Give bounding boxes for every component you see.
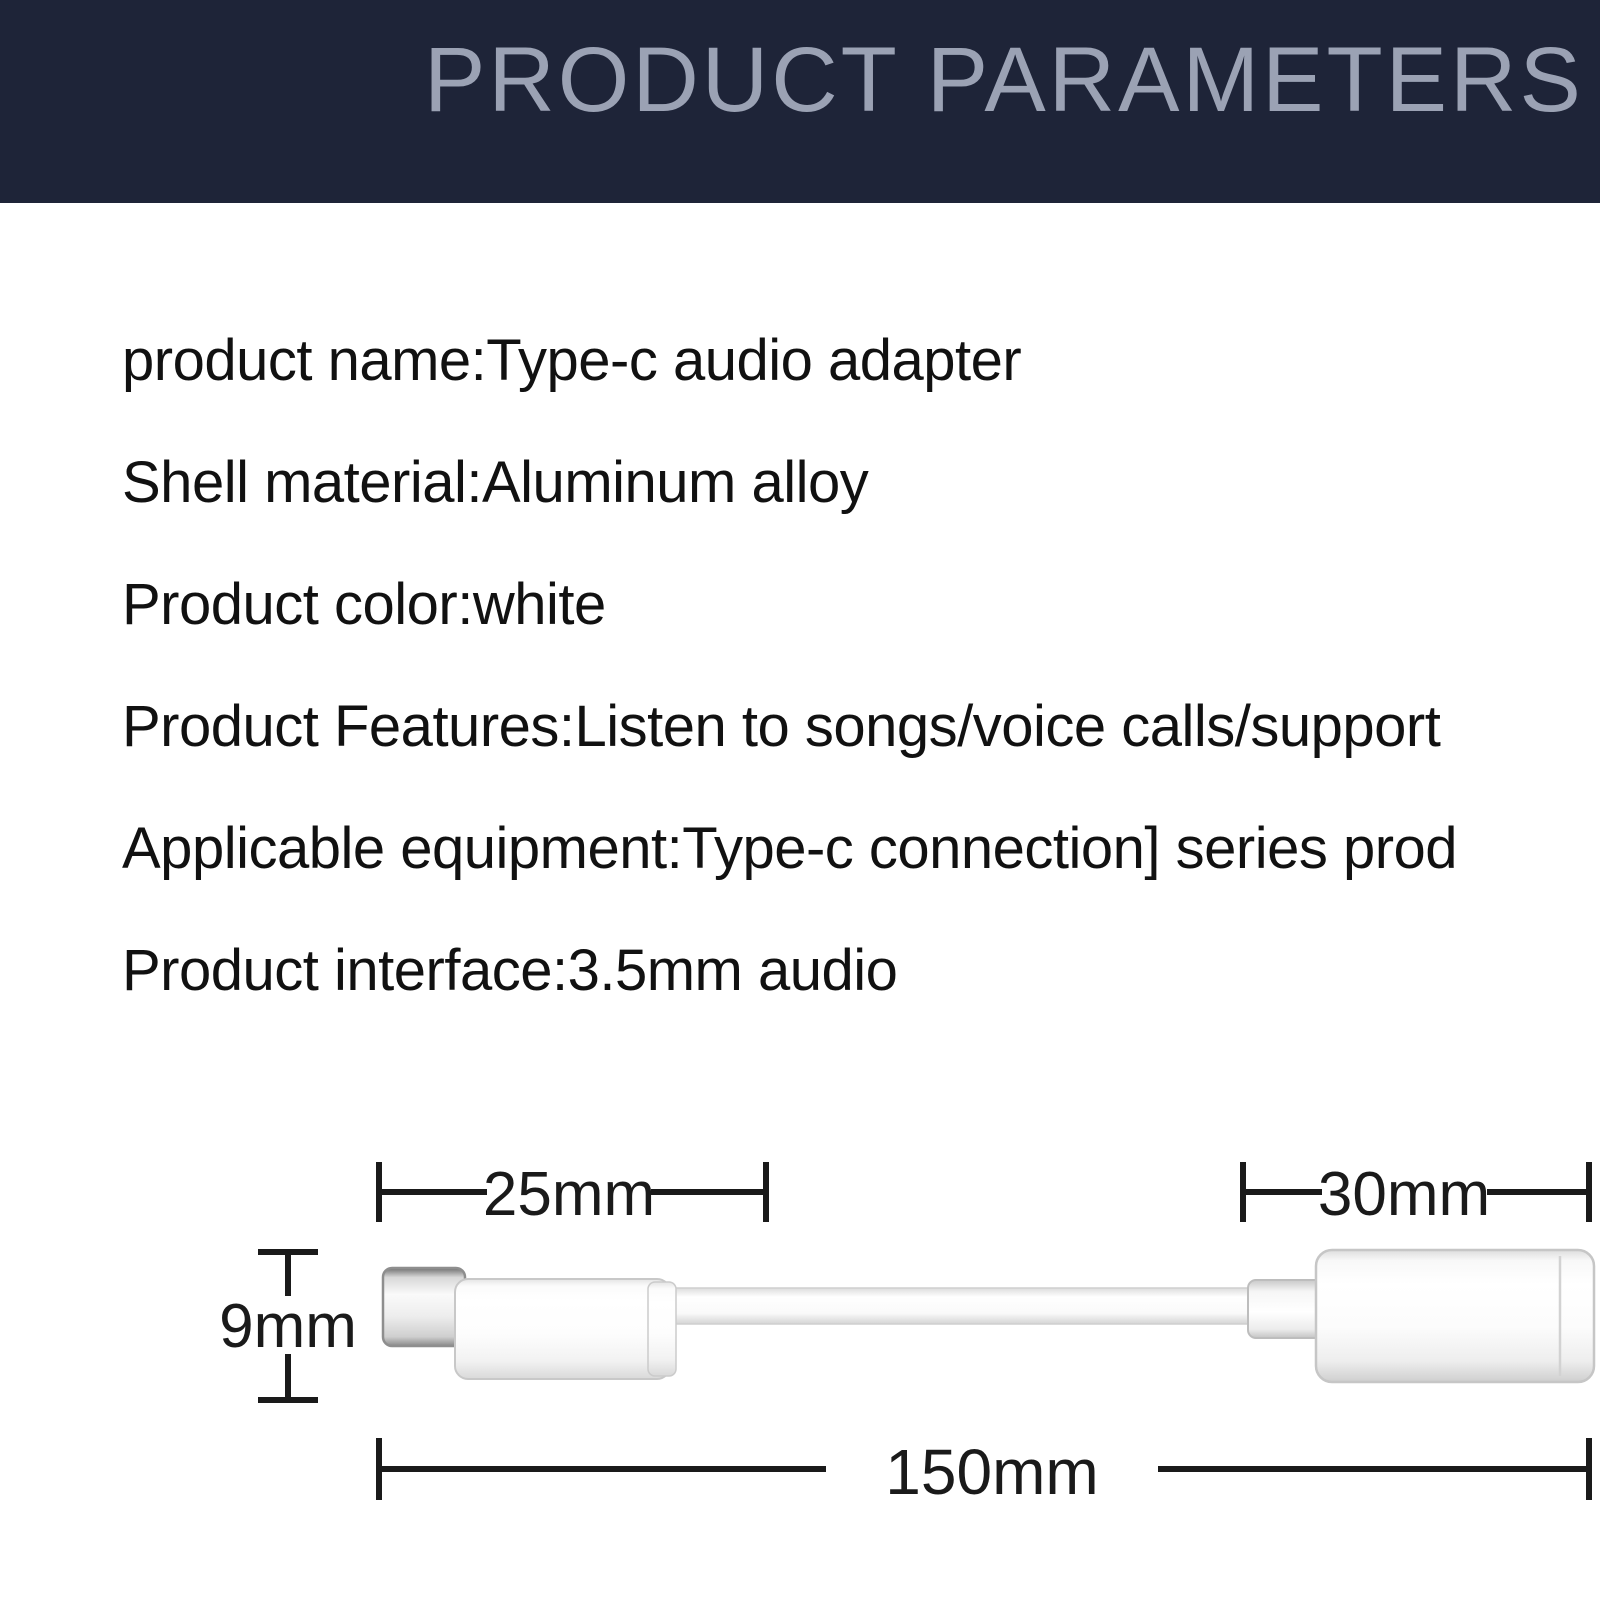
usbc-connector-housing [455, 1279, 670, 1379]
cable-body [640, 1288, 1290, 1324]
spec-line-shell-material: Shell material:Aluminum alloy [122, 422, 1600, 544]
dimension-150mm: 150mm [379, 1436, 1589, 1508]
page-title: PRODUCT PARAMETERS [424, 28, 1584, 132]
spec-line-product-features: Product Features:Listen to songs/voice c… [122, 666, 1600, 788]
spec-line-product-name: product name:Type-c audio adapter [122, 300, 1600, 422]
spec-line-applicable-equipment: Applicable equipment:Type-c connection] … [122, 788, 1600, 910]
product-illustration [383, 1250, 1594, 1382]
strain-relief-collar [1248, 1280, 1326, 1338]
usbc-connector-tip [383, 1268, 465, 1346]
product-spec-list: product name:Type-c audio adapter Shell … [122, 300, 1600, 1032]
spec-line-product-color: Product color:white [122, 544, 1600, 666]
dimension-label-30mm: 30mm [1318, 1160, 1490, 1229]
dimension-label-150mm: 150mm [885, 1436, 1098, 1508]
audio-jack-barrel [1316, 1250, 1594, 1382]
dimension-30mm: 30mm [1243, 1160, 1589, 1229]
dimension-label-25mm: 25mm [483, 1160, 655, 1229]
dimension-25mm: 25mm [379, 1160, 766, 1229]
dimension-9mm: 9mm [219, 1252, 357, 1400]
usbc-housing-shoulder [648, 1282, 676, 1376]
spec-line-product-interface: Product interface:3.5mm audio [122, 910, 1600, 1032]
product-dimension-diagram: 25mm 30mm 9mm [0, 1100, 1600, 1600]
header-band: PRODUCT PARAMETERS [0, 0, 1600, 203]
dimension-label-9mm: 9mm [219, 1292, 357, 1361]
